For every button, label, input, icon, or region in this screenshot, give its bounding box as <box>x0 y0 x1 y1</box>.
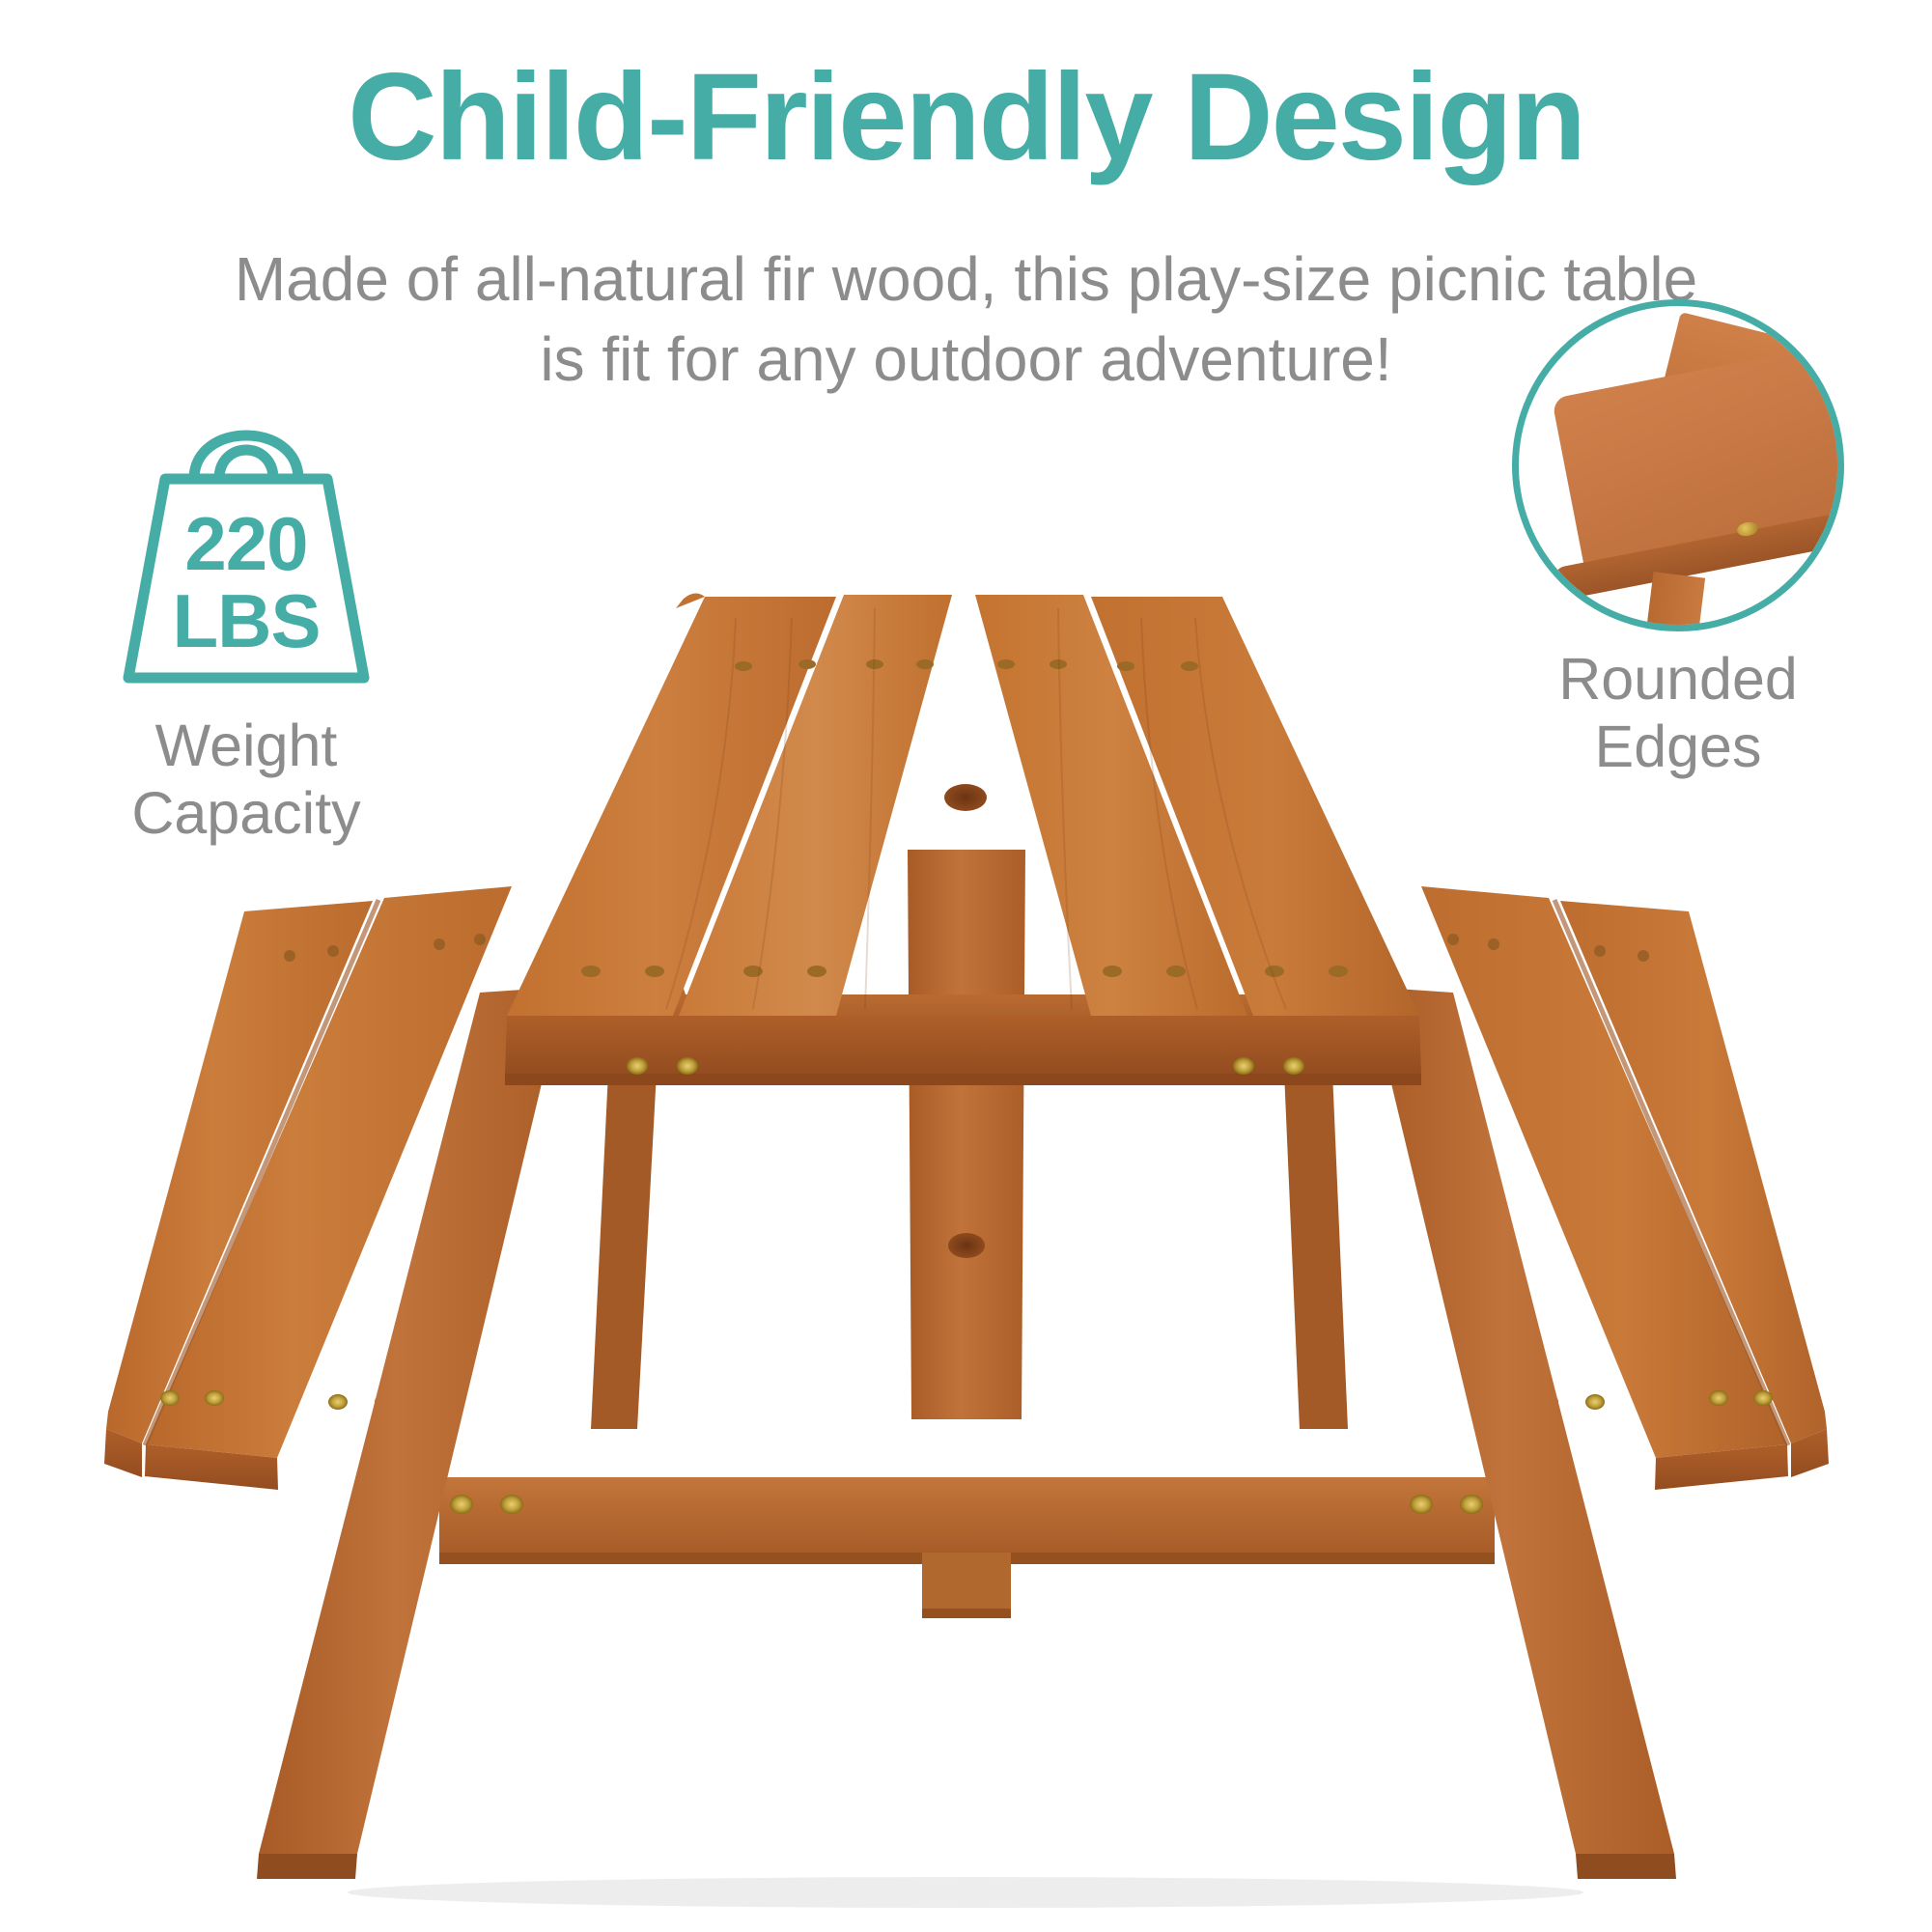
zoom-circle-content <box>1519 306 1837 625</box>
table-legs-back <box>591 1072 1348 1429</box>
stretcher-beam <box>439 1477 1495 1618</box>
rounded-edges-caption: Rounded Edges <box>1470 645 1886 780</box>
weight-caption-line-2: Capacity <box>58 779 434 847</box>
bench-right <box>1238 886 1829 1490</box>
feature-weight-capacity: 220 LBS Weight Capacity <box>58 404 434 847</box>
page-title: Child-Friendly Design <box>0 46 1932 188</box>
weight-capacity-badge: 220 LBS <box>101 404 391 698</box>
feature-rounded-edges: Rounded Edges <box>1470 299 1886 780</box>
weight-value: 220 <box>184 506 307 583</box>
weight-caption-line-1: Weight <box>58 712 434 779</box>
rounded-caption-line-2: Edges <box>1470 713 1886 780</box>
tabletop <box>505 593 1421 1085</box>
tabletop-support-beam <box>577 994 1357 1054</box>
weight-unit: LBS <box>173 583 321 660</box>
table-legs-front <box>257 987 1676 1879</box>
bench-left <box>104 886 695 1490</box>
rounded-caption-line-1: Rounded <box>1470 645 1886 713</box>
center-support-post <box>908 850 1025 1419</box>
shopping-bag-icon: 220 LBS <box>101 404 391 698</box>
rounded-edges-zoom-circle <box>1512 299 1844 631</box>
product-feature-graphic: Child-Friendly Design Made of all-natura… <box>0 0 1932 1932</box>
weight-capacity-caption: Weight Capacity <box>58 712 434 847</box>
